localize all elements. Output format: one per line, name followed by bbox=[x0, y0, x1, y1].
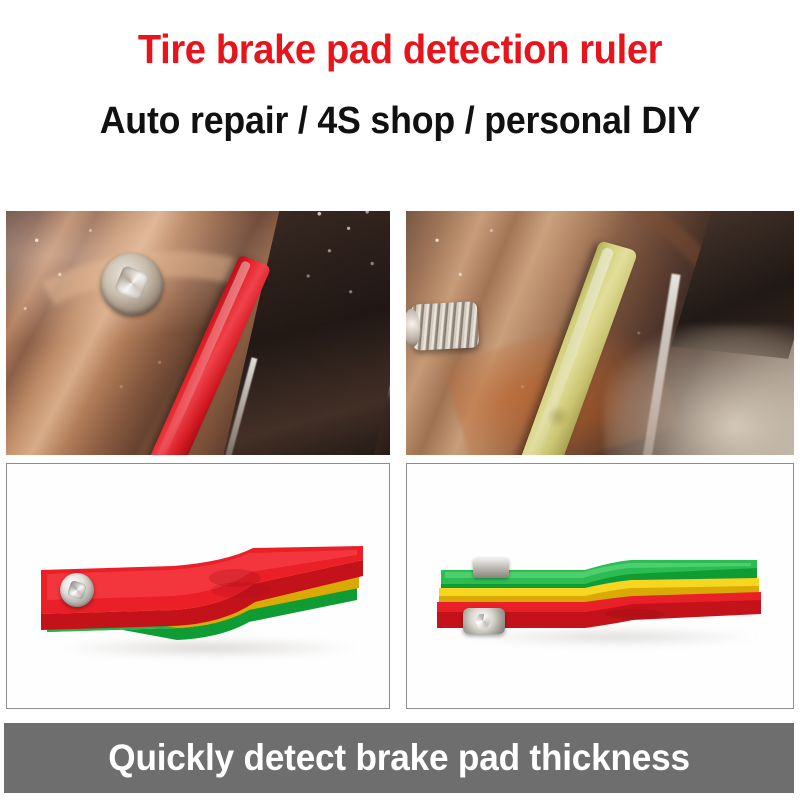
wheel-stud-thread bbox=[411, 301, 479, 350]
brake-pad-grit-texture bbox=[289, 211, 390, 355]
banner-text: Quickly detect brake pad thickness bbox=[108, 737, 690, 779]
photo-product-stack bbox=[406, 463, 794, 709]
photo-brake-yellow-blade bbox=[406, 211, 794, 455]
gauge-fastener-bottom bbox=[463, 608, 505, 634]
photo-brake-red-blade bbox=[6, 211, 390, 455]
page-subtitle: Auto repair / 4S shop / personal DIY bbox=[24, 100, 776, 143]
hub-bolt-head bbox=[101, 253, 163, 315]
photo-product-fan bbox=[6, 463, 390, 709]
gauge-fastener-top bbox=[473, 558, 509, 578]
gauge-pivot-rivet bbox=[60, 573, 94, 607]
header-text-block: Tire brake pad detection ruler Auto repa… bbox=[0, 0, 800, 205]
gauge-tool-fanned bbox=[27, 542, 377, 652]
bottom-banner: Quickly detect brake pad thickness bbox=[4, 723, 794, 793]
page-title: Tire brake pad detection ruler bbox=[28, 26, 772, 73]
photo-light-blob bbox=[604, 325, 794, 455]
product-photo-grid bbox=[6, 211, 794, 711]
gauge-tool-stacked bbox=[435, 556, 765, 642]
